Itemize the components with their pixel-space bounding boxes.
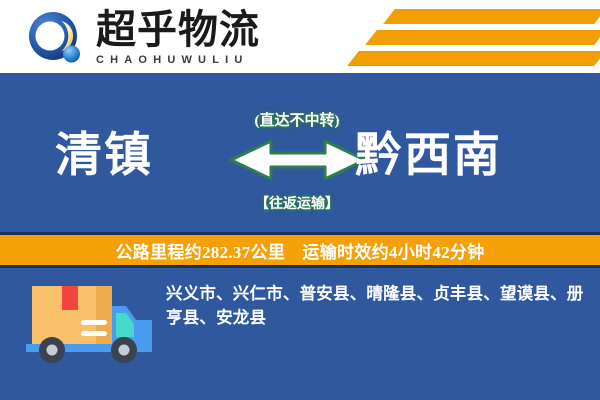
logistics-route-banner: 超乎物流 CHAOHUWULIU 清镇 (直达不中转) 【往返运输】 黔西南 公… [0, 0, 600, 400]
coverage-cities-text: 兴义市、兴仁市、普安县、晴隆县、贞丰县、望谟县、册亨县、安龙县 [166, 282, 586, 330]
destination-city: 黔西南 [355, 130, 502, 182]
brand-block: 超乎物流 CHAOHUWULIU [96, 8, 276, 67]
route-arrow-group: (直达不中转) 【往返运输】 [232, 109, 362, 219]
circle-crescent-logo-icon [28, 11, 84, 67]
stripe-1-icon [383, 9, 600, 24]
route-panel: 清镇 (直达不中转) 【往返运输】 黔西南 [0, 73, 600, 232]
brand-name-cn: 超乎物流 [96, 8, 276, 52]
brand-name-en: CHAOHUWULIU [96, 53, 276, 67]
stripe-2-icon [365, 30, 600, 45]
decorative-stripes [0, 0, 600, 73]
direct-service-note: (直达不中转) [232, 109, 362, 130]
stripe-3-icon [347, 51, 600, 66]
distance-duration-text: 公路里程约282.37公里 运输时效约4小时42分钟 [115, 238, 484, 263]
delivery-truck-icon [24, 280, 154, 372]
coverage-panel: 兴义市、兴仁市、普安县、晴隆县、贞丰县、望谟县、册亨县、安龙县 [0, 268, 600, 400]
double-headed-arrow-icon [227, 135, 369, 185]
round-trip-note: 【往返运输】 [232, 193, 362, 213]
origin-city: 清镇 [55, 130, 153, 182]
header: 超乎物流 CHAOHUWULIU [0, 0, 600, 73]
distance-duration-bar: 公路里程约282.37公里 运输时效约4小时42分钟 [0, 232, 600, 268]
